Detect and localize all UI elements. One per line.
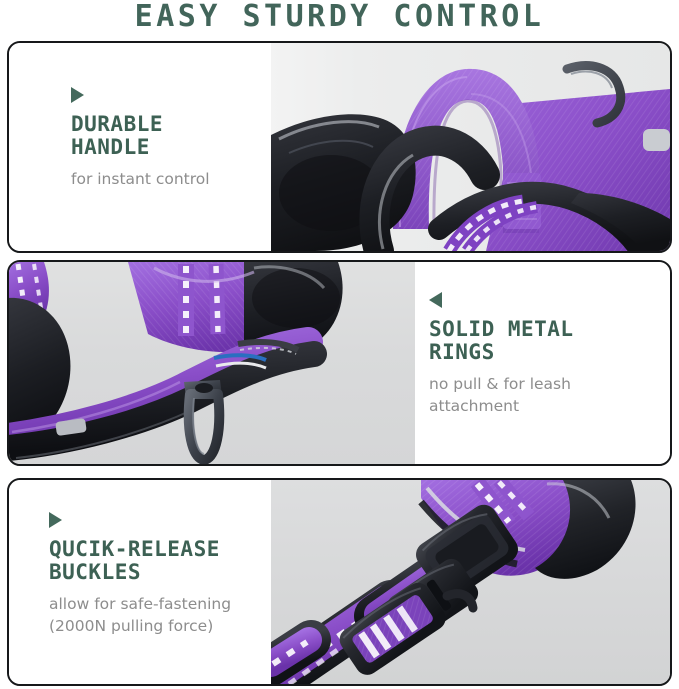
triangle-right-icon	[49, 512, 62, 528]
triangle-left-icon	[429, 292, 442, 308]
panel3-photo	[271, 480, 670, 684]
harness-handle-illustration	[271, 43, 670, 251]
feature-panel-quick-release-buckles: QUCIK-RELEASE BUCKLES allow for safe-fas…	[7, 478, 672, 686]
panel3-heading: QUCIK-RELEASE BUCKLES	[49, 538, 274, 584]
panel2-text-side: SOLID METAL RINGS no pull & for leash at…	[415, 262, 670, 464]
triangle-right-icon	[71, 87, 84, 103]
feature-panel-solid-metal-rings: SOLID METAL RINGS no pull & for leash at…	[7, 260, 672, 466]
panel3-body: allow for safe-fastening (2000N pulling …	[49, 593, 274, 637]
panel2-body: no pull & for leash attachment	[429, 373, 664, 417]
panel2-photo	[9, 262, 415, 464]
product-infographic: EASY STURDY CONTROL DURABLE HANDLE for i…	[0, 0, 679, 689]
panel1-body: for instant control	[71, 168, 271, 190]
harness-metal-ring-illustration	[9, 262, 415, 464]
panel1-text-side: DURABLE HANDLE for instant control	[9, 43, 271, 251]
panel2-heading: SOLID METAL RINGS	[429, 318, 664, 364]
panel3-text-side: QUCIK-RELEASE BUCKLES allow for safe-fas…	[9, 480, 271, 684]
quick-release-buckle-illustration	[271, 480, 670, 684]
feature-panel-durable-handle: DURABLE HANDLE for instant control	[7, 41, 672, 253]
panel1-heading: DURABLE HANDLE	[71, 113, 271, 159]
panel1-photo	[271, 43, 670, 251]
page-title: EASY STURDY CONTROL	[0, 0, 679, 35]
